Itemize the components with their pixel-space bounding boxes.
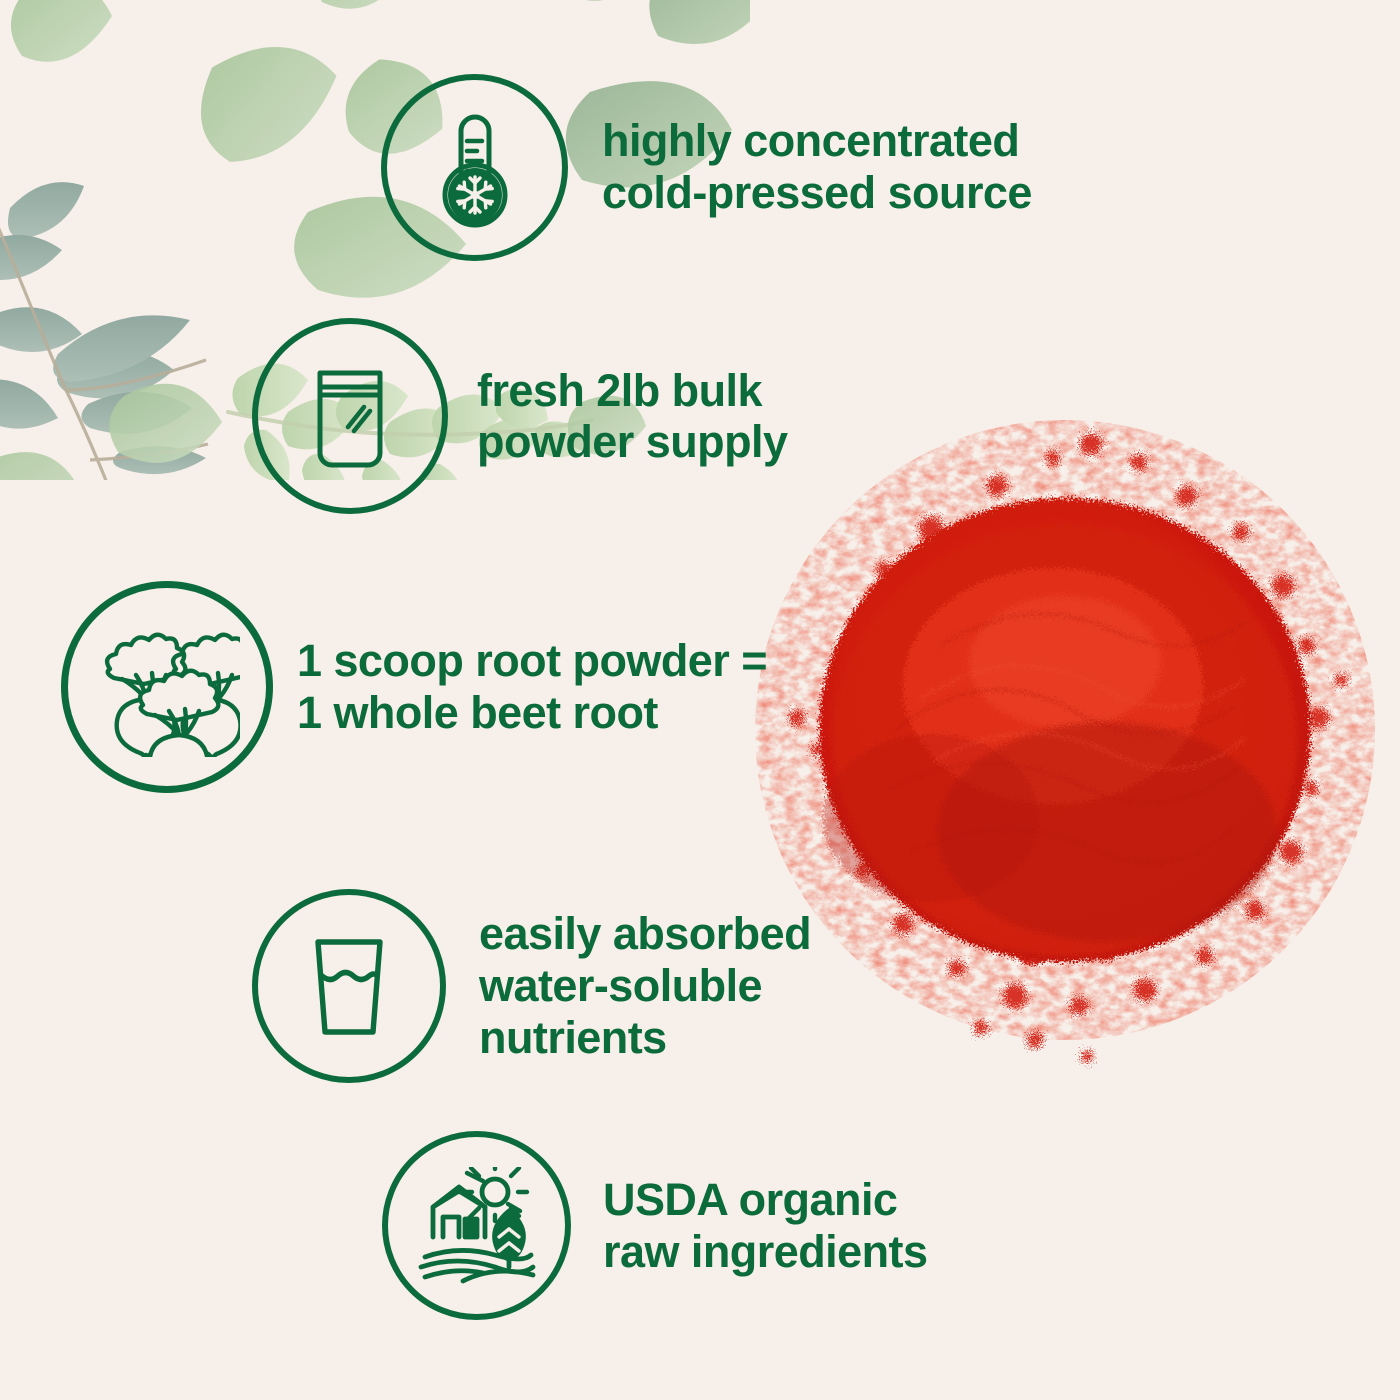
feature-text: highly concentrated cold-pressed source — [602, 115, 1032, 218]
feature-text: 1 scoop root powder = 1 whole beet root — [297, 635, 767, 739]
infographic-canvas: highly concentrated cold-pressed source — [0, 0, 1400, 1400]
feature-icon-badge — [252, 318, 448, 514]
thermometer-snowflake-icon — [419, 105, 531, 231]
feature-item-bulk-supply: fresh 2lb bulk powder supply — [252, 318, 788, 514]
feature-item-water-soluble: easily absorbed water-soluble nutrients — [252, 889, 811, 1083]
feature-icon-badge — [252, 889, 446, 1083]
feature-icon-badge — [382, 1131, 571, 1320]
feature-icon-badge — [61, 581, 273, 793]
water-glass-icon — [297, 928, 401, 1044]
feature-text: USDA organic raw ingredients — [603, 1174, 927, 1278]
feature-list: highly concentrated cold-pressed source — [0, 0, 1400, 1400]
feature-item-scoop-equivalence: 1 scoop root powder = 1 whole beet root — [61, 581, 767, 793]
feature-text: fresh 2lb bulk powder supply — [477, 365, 788, 468]
beet-roots-icon — [94, 617, 240, 757]
farm-sun-icon — [415, 1167, 539, 1285]
feature-icon-badge — [381, 74, 568, 261]
feature-text: easily absorbed water-soluble nutrients — [479, 908, 811, 1063]
feature-item-highly-concentrated: highly concentrated cold-pressed source — [381, 74, 1032, 261]
resealable-pouch-icon — [294, 357, 406, 475]
feature-item-usda-organic: USDA organic raw ingredients — [382, 1131, 927, 1320]
